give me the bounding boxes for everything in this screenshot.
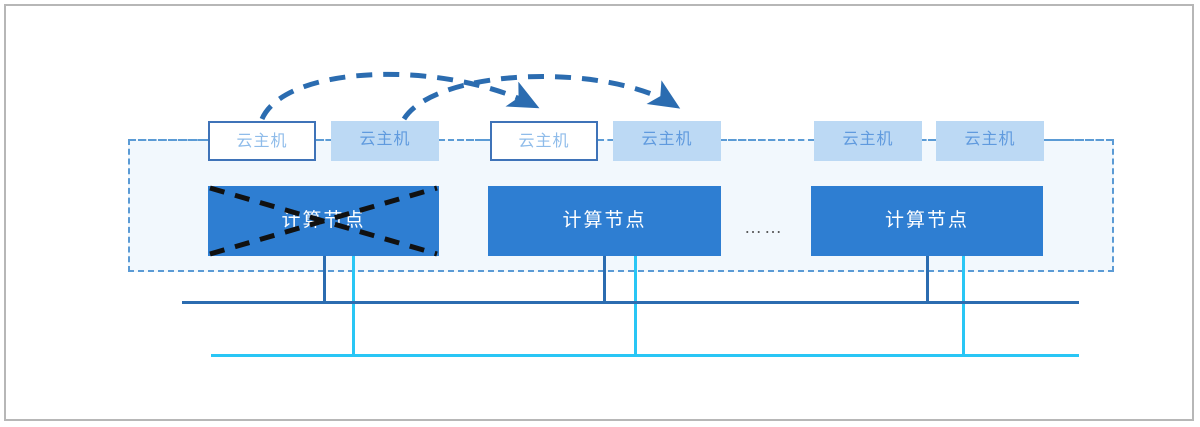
drop-line-mgmt-1 [323,256,326,303]
compute-node-3[interactable]: 计算节点 [811,186,1043,256]
storage-network-bus [211,354,1079,357]
vm-box-4-label: 云主机 [641,131,692,148]
drop-line-mgmt-2 [603,256,606,303]
vm-link-5-6 [921,139,936,141]
vm-box-6-label: 云主机 [964,131,1015,148]
vm-link-left-edge [130,139,208,141]
migration-arrow-2 [404,77,676,119]
compute-node-3-label: 计算节点 [885,210,969,231]
drop-line-storage-1 [352,256,355,356]
compute-node-2-label: 计算节点 [562,210,646,231]
vm-link-3-4 [598,139,613,141]
vm-box-3[interactable]: 云主机 [490,121,598,161]
drop-line-mgmt-3 [926,256,929,303]
vm-link-2-3 [439,139,490,141]
vm-box-4[interactable]: 云主机 [613,121,721,161]
compute-node-1[interactable]: 计算节点 [208,186,439,256]
vm-box-2[interactable]: 云主机 [331,121,439,161]
nodes-ellipsis: …… [744,218,784,236]
vm-box-1[interactable]: 云主机 [208,121,316,161]
vm-box-6[interactable]: 云主机 [936,121,1044,161]
vm-box-5-label: 云主机 [842,131,893,148]
drop-line-storage-3 [962,256,965,356]
compute-node-1-label: 计算节点 [281,210,365,231]
drop-line-storage-2 [634,256,637,356]
migration-arrow-1 [262,74,535,119]
compute-node-2[interactable]: 计算节点 [488,186,721,256]
management-network-bus [182,301,1079,304]
vm-box-1-label: 云主机 [236,133,287,150]
vm-link-right-edge [1043,139,1112,141]
vm-box-3-label: 云主机 [518,133,569,150]
vm-box-5[interactable]: 云主机 [814,121,922,161]
vm-link-1-2 [316,139,331,141]
vm-link-4-5 [721,139,814,141]
diagram-canvas: 云主机 云主机 云主机 云主机 云主机 云主机 计算节点 计算节点 计算节点 …… [0,0,1200,427]
diagram-frame: 云主机 云主机 云主机 云主机 云主机 云主机 计算节点 计算节点 计算节点 …… [4,4,1194,421]
vm-box-2-label: 云主机 [359,131,410,148]
